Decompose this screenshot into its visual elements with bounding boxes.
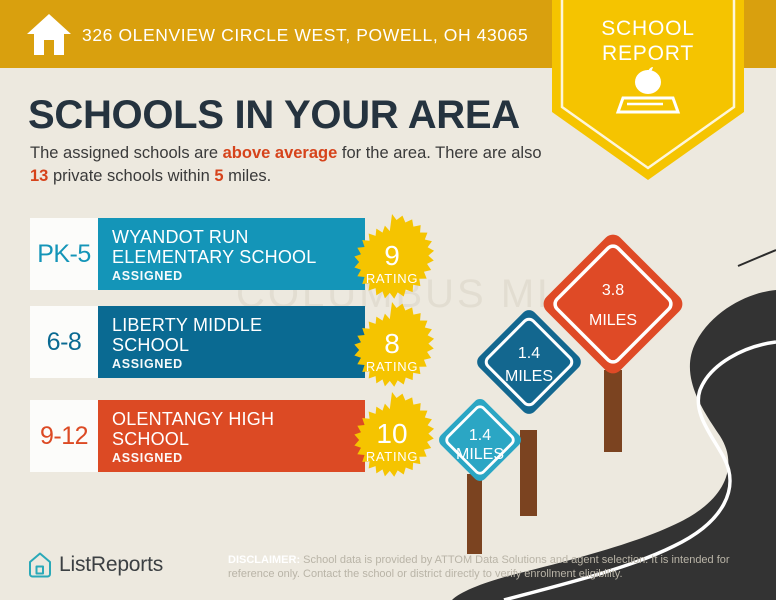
- rating-content: 8 RATING: [344, 302, 440, 398]
- disclaimer: DISCLAIMER: School data is provided by A…: [228, 553, 768, 581]
- grade-label: 9-12: [40, 422, 88, 451]
- school-name: OLENTANGY HIGH SCHOOL: [112, 409, 322, 449]
- subtitle-text-2: for the area. There are also: [337, 144, 541, 162]
- school-name-bar: LIBERTY MIDDLE SCHOOL ASSIGNED: [98, 306, 365, 378]
- logo-text: ListReports: [59, 553, 163, 577]
- school-report-badge: SCHOOL REPORT: [552, 0, 744, 180]
- school-name-bar: OLENTANGY HIGH SCHOOL ASSIGNED: [98, 400, 365, 472]
- diamond-shape: [435, 395, 525, 485]
- school-status: ASSIGNED: [112, 269, 365, 283]
- house-pin-icon: [28, 552, 52, 578]
- rating-badge: 8 RATING: [344, 302, 440, 398]
- subtitle-highlight-radius: 5: [214, 167, 223, 185]
- listreports-logo[interactable]: ListReports: [28, 552, 163, 578]
- grade-box: 9-12: [30, 400, 98, 472]
- school-report-infographic: 326 OLENVIEW CIRCLE WEST, POWELL, OH 430…: [0, 0, 776, 600]
- page-title: SCHOOLS IN YOUR AREA: [28, 92, 520, 138]
- rating-value: 10: [376, 420, 407, 448]
- subtitle-text-1: The assigned schools are: [30, 144, 223, 162]
- school-status: ASSIGNED: [112, 451, 365, 465]
- road-illustration: 3.8 MILES 1.4 MILES 1.4 MILES: [452, 230, 776, 600]
- subtitle-highlight-rating: above average: [223, 144, 338, 162]
- property-address: 326 OLENVIEW CIRCLE WEST, POWELL, OH 430…: [82, 25, 528, 46]
- badge-label: SCHOOL REPORT: [552, 16, 744, 66]
- rating-caption: RATING: [366, 271, 418, 286]
- rating-value: 8: [384, 330, 400, 358]
- school-name-bar: WYANDOT RUN ELEMENTARY SCHOOL ASSIGNED: [98, 218, 365, 290]
- badge-line-2: REPORT: [552, 41, 744, 66]
- subtitle-text-3: private schools within: [48, 167, 214, 185]
- school-status: ASSIGNED: [112, 357, 365, 371]
- subtitle-highlight-count: 13: [30, 167, 48, 185]
- school-row[interactable]: PK-5 WYANDOT RUN ELEMENTARY SCHOOL ASSIG…: [30, 218, 365, 290]
- subtitle-text-4: miles.: [224, 167, 272, 185]
- distance-sign[interactable]: 1.4 MILES: [435, 395, 525, 485]
- page-subtitle: The assigned schools are above average f…: [30, 142, 550, 188]
- rating-content: 10 RATING: [344, 392, 440, 488]
- disclaimer-text: School data is provided by ATTOM Data So…: [228, 554, 730, 580]
- rating-badge: 10 RATING: [344, 392, 440, 488]
- grade-box: PK-5: [30, 218, 98, 290]
- sign-post: [467, 474, 482, 554]
- rating-caption: RATING: [366, 359, 418, 374]
- rating-value: 9: [384, 242, 400, 270]
- grade-label: 6-8: [47, 328, 82, 357]
- school-row[interactable]: 9-12 OLENTANGY HIGH SCHOOL ASSIGNED: [30, 400, 365, 472]
- rating-content: 9 RATING: [344, 214, 440, 310]
- grade-box: 6-8: [30, 306, 98, 378]
- school-name: LIBERTY MIDDLE SCHOOL: [112, 315, 322, 355]
- grade-label: PK-5: [37, 240, 91, 269]
- badge-line-1: SCHOOL: [552, 16, 744, 41]
- sign-post: [604, 370, 622, 452]
- disclaimer-label: DISCLAIMER:: [228, 554, 300, 566]
- rating-caption: RATING: [366, 449, 418, 464]
- rating-badge: 9 RATING: [344, 214, 440, 310]
- home-icon: [26, 12, 72, 56]
- school-name: WYANDOT RUN ELEMENTARY SCHOOL: [112, 227, 322, 267]
- school-row[interactable]: 6-8 LIBERTY MIDDLE SCHOOL ASSIGNED: [30, 306, 365, 378]
